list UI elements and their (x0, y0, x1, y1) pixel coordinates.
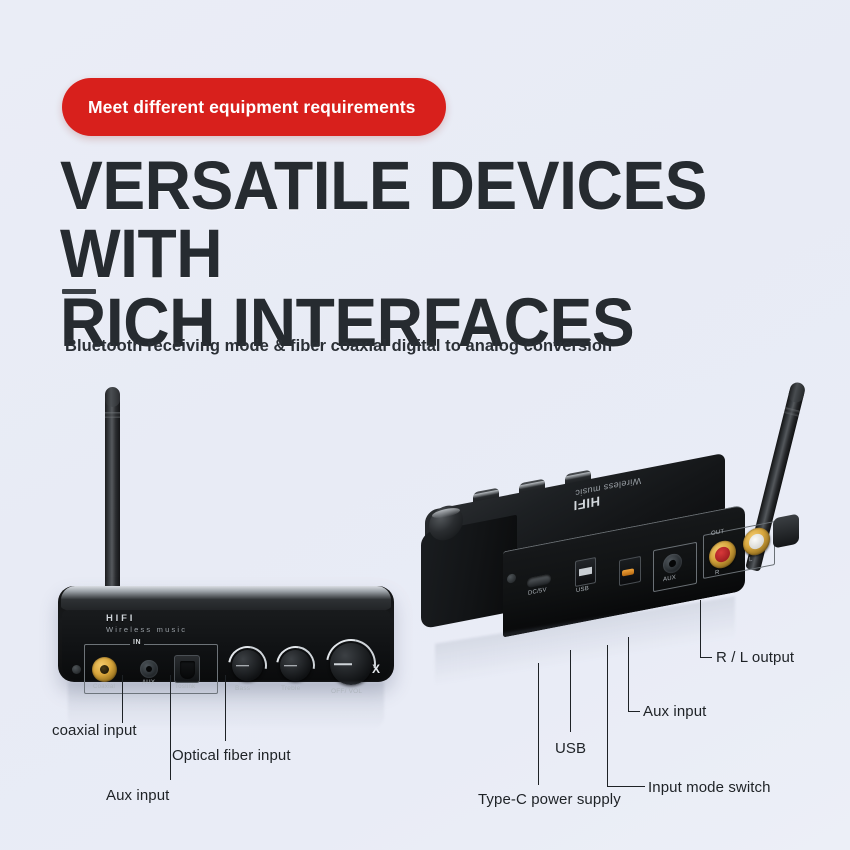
title-underline-dash (62, 289, 96, 294)
callout-coaxial-input: coaxial input (52, 722, 137, 739)
leader-line-rl-output (700, 600, 701, 658)
aux-port[interactable] (140, 660, 158, 678)
volume-knob[interactable] (330, 643, 372, 685)
left-device-chassis: HIFI Wireless music IN Coaxial AUX Tosli… (58, 586, 394, 682)
callout-rl-output: R / L output (716, 649, 794, 666)
headline-line-1: VERSATILE DEVICES WITH (60, 147, 707, 292)
leader-line-coaxial (122, 675, 123, 723)
left-device-front-view: HIFI Wireless music IN Coaxial AUX Tosli… (58, 390, 408, 690)
leader-line-input-mode-switch (607, 645, 608, 787)
right-device-rear-view: HIFI Wireless music DC/5V USB AUX OUT R … (415, 378, 835, 678)
antenna-icon (105, 390, 120, 595)
callout-aux-input: Aux input (106, 787, 169, 804)
callout-aux-input-right: Aux input (643, 703, 706, 720)
leader-line-optical (225, 675, 226, 741)
leader-elbow-aux-right (628, 711, 640, 712)
leader-line-usb (570, 650, 571, 732)
antenna-base (773, 513, 799, 548)
tagline-badge: Meet different equipment requirements (62, 78, 446, 136)
leader-line-aux-right (628, 637, 629, 712)
treble-knob[interactable] (280, 650, 311, 681)
left-device-front-panel: HIFI Wireless music IN Coaxial AUX Tosli… (62, 610, 390, 680)
toslink-port[interactable] (174, 655, 200, 683)
leader-line-aux (170, 675, 171, 780)
rca-left-label: L (749, 557, 753, 564)
input-group-label: IN (130, 639, 144, 646)
page-title: VERSATILE DEVICES WITH RICH INTERFACES (60, 152, 748, 357)
callout-optical-fiber-input: Optical fiber input (172, 747, 291, 764)
input-mode-switch[interactable] (619, 556, 641, 586)
chassis-screw (72, 665, 81, 674)
rca-right-label: R (715, 570, 720, 577)
callout-input-mode-switch: Input mode switch (648, 779, 771, 796)
callout-type-c-power-supply: Type-C power supply (478, 791, 621, 808)
usb-a-port[interactable] (575, 557, 596, 587)
leader-line-type-c (538, 663, 539, 785)
leader-elbow-input-mode-switch (607, 786, 645, 787)
subtitle: Bluetooth receiving mode & fiber coaxial… (65, 337, 612, 356)
brand-logo: HIFI (106, 613, 135, 624)
coaxial-port[interactable] (92, 657, 117, 682)
bass-knob[interactable] (232, 650, 263, 681)
brand-tagline: Wireless music (106, 625, 187, 634)
product-poster: Meet different equipment requirements VE… (0, 0, 850, 850)
leader-elbow-rl-output (700, 657, 712, 658)
callout-usb: USB (555, 740, 586, 757)
